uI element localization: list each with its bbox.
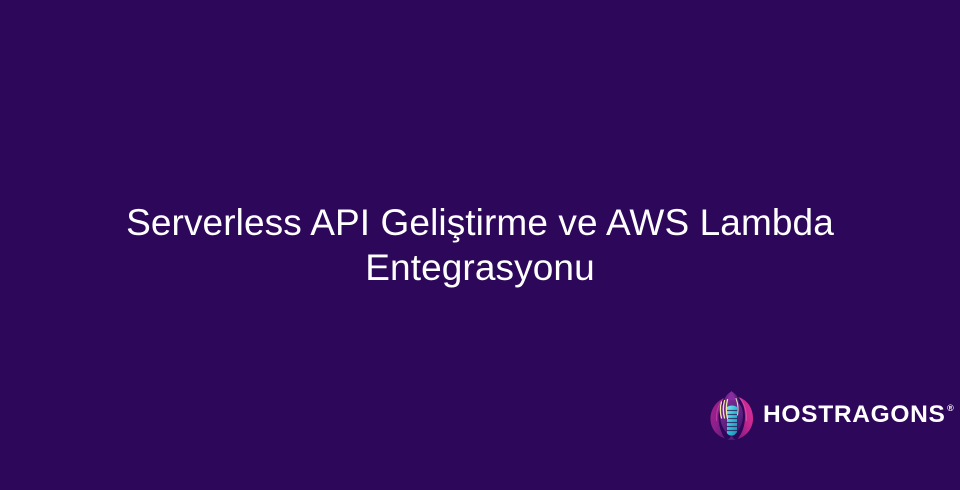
page-title: Serverless API Geliştirme ve AWS Lambda …: [85, 200, 875, 290]
blog-banner: Serverless API Geliştirme ve AWS Lambda …: [0, 0, 960, 490]
logo-wordmark-text: HOSTRAGONS: [763, 403, 946, 428]
registered-trademark-symbol: ®: [947, 404, 954, 413]
logo-wordmark: HOSTRAGONS ®: [763, 403, 954, 428]
brand-logo: HOSTRAGONS ®: [708, 390, 954, 440]
hostragons-dragon-icon: [708, 390, 755, 440]
